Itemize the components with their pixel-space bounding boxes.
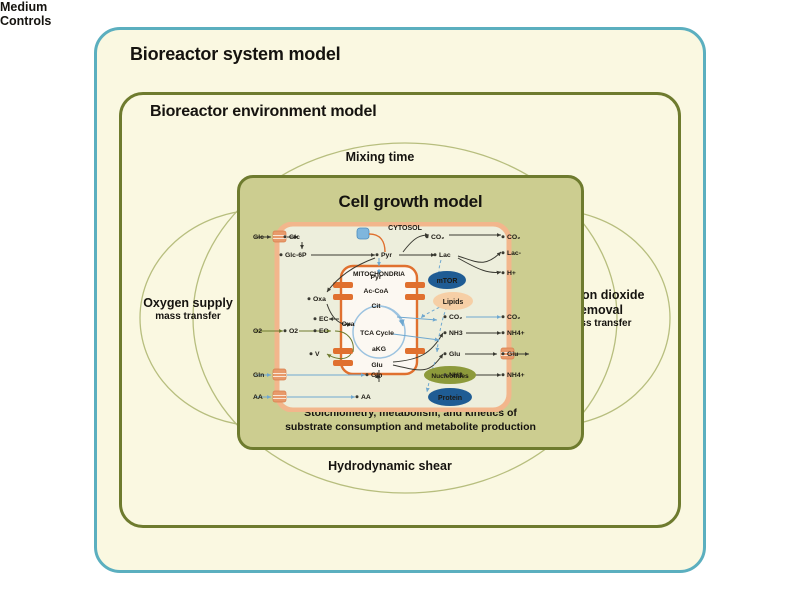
extracellular-output-2-dot	[502, 271, 505, 274]
cytosol-node-2: Pyr	[381, 252, 392, 259]
mito-node-4: TCA Cycle	[360, 330, 394, 337]
cytosol-node-1: Glc-6P	[285, 252, 307, 259]
organelle-protein-label: Protein	[438, 395, 462, 402]
extracellular-output-4-dot	[502, 331, 505, 334]
extracellular-output-4: NH4+	[507, 330, 525, 337]
extracellular-output-6-dot	[502, 373, 505, 376]
extracellular-output-3: CO₂	[507, 314, 520, 321]
mito-node-2: Cit	[371, 303, 381, 310]
cytosol-node-10: Gln	[371, 372, 382, 379]
cytosol-node-2-dot	[376, 253, 379, 256]
cytosol-node-0: Glc	[289, 234, 300, 241]
cytosol-node-12: CO₂	[449, 314, 462, 321]
mito-node-1: Ac-CoA	[364, 288, 389, 295]
cytosol-label: CYTOSOL	[388, 225, 422, 232]
extracellular-output-0: CO₂	[507, 234, 520, 241]
cytosol-node-3-dot	[434, 253, 437, 256]
oxygen-supply-subtitle: mass transfer	[126, 311, 250, 323]
mito-node-3: Oxa	[342, 321, 355, 328]
extracellular-input-0: Glc	[253, 234, 264, 241]
cytosol-node-13-dot	[444, 331, 447, 334]
cytosol-node-11-dot	[356, 395, 359, 398]
extracellular-output-3-dot	[502, 315, 505, 318]
organelle-mtor-label: mTOR	[437, 278, 458, 285]
cytosol-node-10-dot	[366, 373, 369, 376]
extracellular-output-1-dot	[502, 251, 505, 254]
label-oxygen-supply: Oxygen supply mass transfer	[126, 296, 250, 323]
cell-growth-model-title: Cell growth model	[237, 192, 584, 212]
cytosol-node-13: NH3	[449, 330, 463, 337]
cytosol-node-12-dot	[444, 315, 447, 318]
caption-line-2: substrate consumption and metabolite pro…	[247, 420, 574, 434]
cytosol-node-7: EC	[319, 328, 329, 335]
cytosol-node-9: V	[315, 351, 320, 358]
cytosol-node-8-dot	[284, 329, 287, 332]
extracellular-output-6: NH4+	[507, 372, 525, 379]
cytosol-node-8: O2	[289, 328, 298, 335]
oxygen-supply-title: Oxygen supply	[126, 296, 250, 311]
cytosol-node-5: Oxa	[313, 296, 326, 303]
cytosol-node-14-dot	[444, 352, 447, 355]
cytosol-node-6-dot	[314, 317, 317, 320]
extracellular-output-2: H+	[507, 270, 516, 277]
extracellular-input-3: AA	[253, 394, 263, 401]
enzyme-marker-icon	[357, 228, 369, 239]
cytosol-node-6: EC	[319, 316, 329, 323]
extracellular-input-2: Gln	[253, 372, 264, 379]
cytosol-node-3: Lac	[439, 252, 451, 259]
cytosol-node-5-dot	[308, 297, 311, 300]
extracellular-input-1: O2	[253, 328, 262, 335]
extracellular-output-0-dot	[502, 235, 505, 238]
cytosol-node-15: NH3	[449, 372, 463, 379]
cell-metabolism-diagram: mTOR Lipids Nucleotides Protein CYTOSOL …	[253, 222, 568, 412]
cytosol-node-7-dot	[314, 329, 317, 332]
extracellular-output-5-dot	[502, 352, 505, 355]
organelle-lipids-label: Lipids	[443, 299, 464, 306]
cytosol-node-14: Glu	[449, 351, 460, 358]
cytosol-node-4: CO₂	[431, 234, 444, 241]
mito-node-5: aKG	[372, 346, 386, 353]
extracellular-output-1: Lac-	[507, 250, 521, 257]
mito-node-0: Pyr	[371, 274, 382, 281]
mito-node-6: Glu	[371, 362, 382, 369]
organelle-mtor: mTOR	[428, 271, 466, 289]
cytosol-node-1-dot	[280, 253, 283, 256]
cytosol-node-0-dot	[284, 235, 287, 238]
diagram-canvas: Bioreactor system model Bioreactor envir…	[0, 0, 800, 600]
cytosol-node-4-dot	[426, 235, 429, 238]
cytosol-node-11: AA	[361, 394, 371, 401]
cytosol-node-9-dot	[310, 352, 313, 355]
organelle-lipids: Lipids	[433, 292, 473, 310]
label-hydrodynamic-shear: Hydrodynamic shear	[290, 459, 490, 474]
organelle-protein: Protein	[428, 388, 472, 406]
label-mixing-time: Mixing time	[300, 150, 460, 165]
extracellular-output-5: Glu	[507, 351, 518, 358]
cytosol-node-15-dot	[444, 373, 447, 376]
